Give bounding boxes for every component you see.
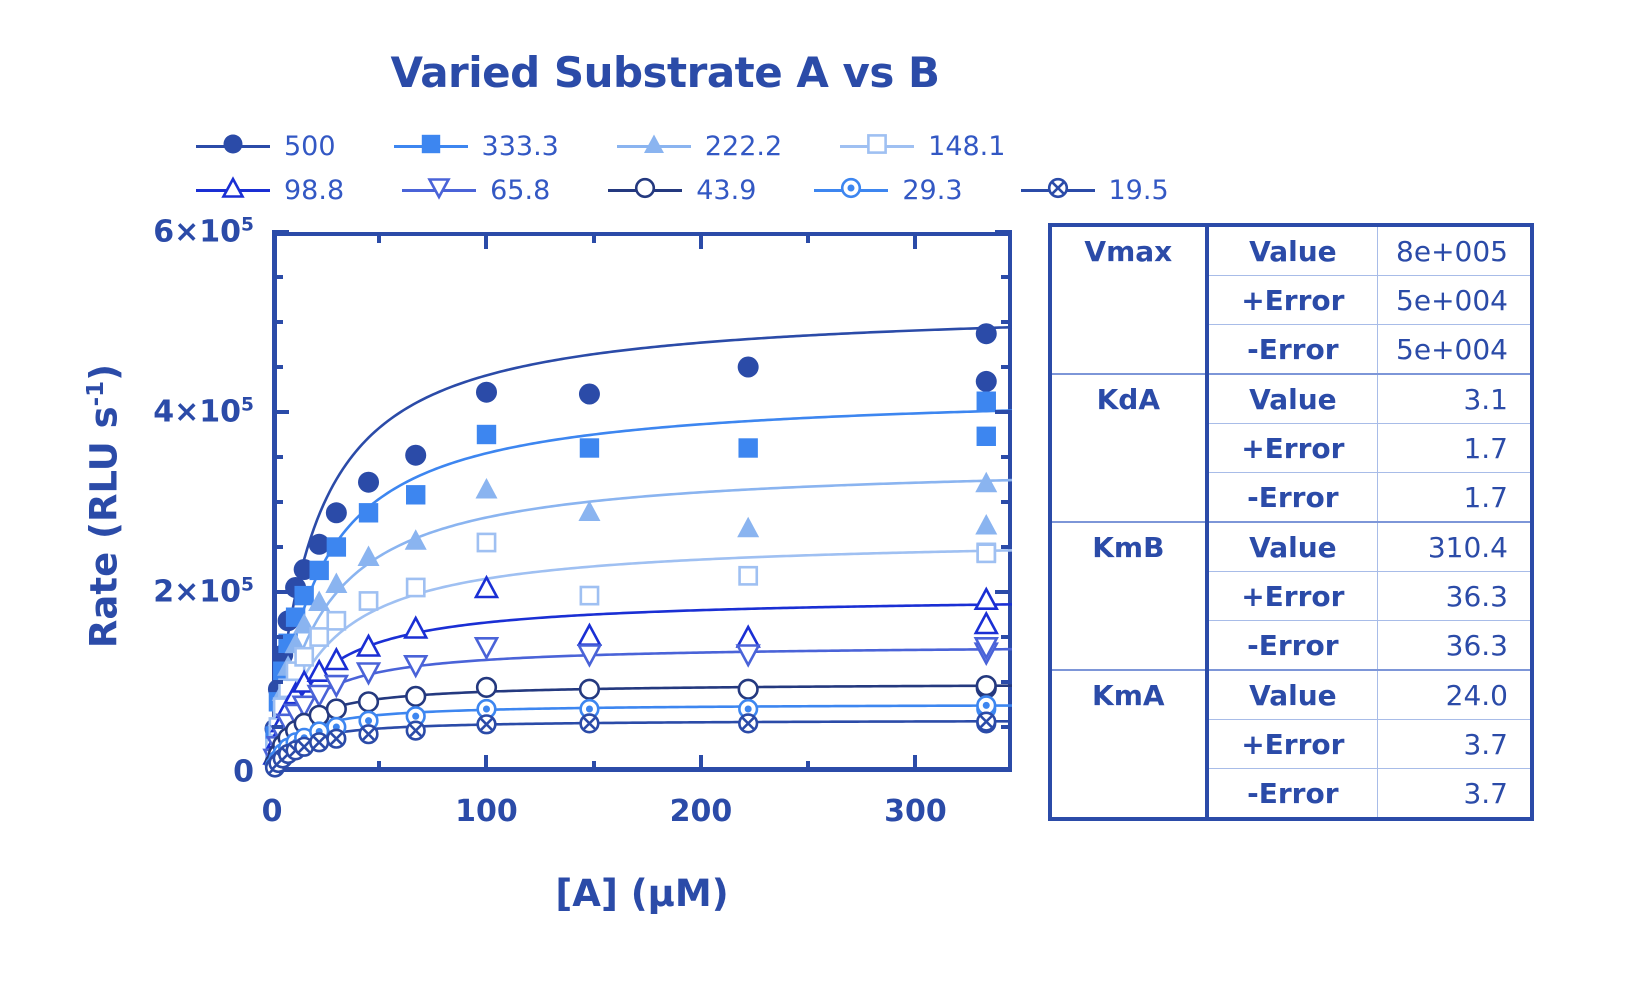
data-point bbox=[579, 625, 600, 645]
data-point bbox=[475, 478, 497, 499]
y-axis-minor-tick bbox=[1001, 680, 1012, 684]
parameter-name: KdA bbox=[1050, 374, 1207, 522]
data-point bbox=[581, 715, 599, 733]
legend-marker-filled-circle-icon bbox=[196, 134, 270, 158]
legend-marker-open-square-icon bbox=[840, 134, 914, 158]
legend-label: 148.1 bbox=[928, 131, 1005, 162]
y-axis-tick-mark bbox=[272, 410, 289, 414]
legend-marker-open-triangle-icon bbox=[196, 178, 270, 202]
data-point bbox=[977, 427, 996, 446]
data-point bbox=[360, 592, 377, 609]
data-point bbox=[296, 648, 313, 665]
data-point bbox=[476, 382, 497, 403]
data-point bbox=[478, 534, 495, 551]
parameter-value: 5e+004 bbox=[1378, 276, 1532, 325]
y-axis-minor-tick bbox=[272, 680, 283, 684]
fit-curve bbox=[272, 706, 1012, 772]
data-point bbox=[976, 614, 997, 634]
x-axis-minor-tick bbox=[377, 761, 381, 772]
legend-item-43-9[interactable]: 43.9 bbox=[608, 175, 756, 206]
x-axis-tick-label: 0 bbox=[262, 794, 283, 829]
data-point bbox=[476, 638, 497, 658]
legend-row: 98.865.843.929.319.5 bbox=[196, 168, 1196, 212]
data-point bbox=[326, 502, 347, 523]
data-point bbox=[477, 425, 496, 444]
legend-item-333-3[interactable]: 333.3 bbox=[394, 131, 559, 162]
parameter-field: Value bbox=[1207, 670, 1378, 720]
data-point bbox=[360, 725, 378, 743]
y-axis-minor-tick bbox=[272, 320, 283, 324]
y-axis-label: Rate (RLU s-1) bbox=[83, 364, 126, 648]
data-point bbox=[976, 371, 997, 392]
data-point bbox=[477, 678, 496, 697]
x-axis-tick-label: 100 bbox=[455, 794, 518, 829]
chart-legend: 500333.3222.2148.198.865.843.929.319.5 bbox=[196, 124, 1196, 212]
parameter-name: Vmax bbox=[1050, 225, 1207, 374]
parameter-table: VmaxValue8e+005+Error5e+004-Error5e+004K… bbox=[1048, 223, 1534, 821]
data-point bbox=[977, 676, 996, 695]
chart-title: Varied Substrate A vs B bbox=[0, 48, 1330, 97]
table-row: KmBValue310.4 bbox=[1050, 522, 1532, 572]
y-axis-minor-tick bbox=[1001, 500, 1012, 504]
x-axis-tick-mark bbox=[699, 232, 703, 249]
data-point bbox=[977, 713, 995, 731]
data-point bbox=[309, 561, 328, 580]
legend-marker-target-circle-icon bbox=[814, 178, 888, 202]
parameter-value: 3.7 bbox=[1378, 720, 1532, 769]
x-axis-tick-mark bbox=[699, 755, 703, 772]
legend-label: 98.8 bbox=[284, 175, 344, 206]
y-axis-tick-label: 6×105 bbox=[153, 215, 254, 250]
x-axis-minor-tick bbox=[592, 761, 596, 772]
parameter-field: -Error bbox=[1207, 473, 1378, 523]
parameter-field: Value bbox=[1207, 225, 1378, 276]
legend-marker-open-circle-icon bbox=[608, 178, 682, 202]
parameter-value: 36.3 bbox=[1378, 572, 1532, 621]
y-axis-minor-tick bbox=[1001, 455, 1012, 459]
parameter-field: Value bbox=[1207, 374, 1378, 424]
chart-page: Varied Substrate A vs B 500333.3222.2148… bbox=[0, 0, 1649, 983]
data-point bbox=[311, 628, 328, 645]
data-point bbox=[309, 534, 330, 555]
table-row: KmAValue24.0 bbox=[1050, 670, 1532, 720]
data-point bbox=[581, 587, 598, 604]
parameter-field: -Error bbox=[1207, 769, 1378, 820]
x-axis-tick-mark bbox=[913, 755, 917, 772]
legend-label: 333.3 bbox=[482, 131, 559, 162]
y-axis-minor-tick bbox=[272, 545, 283, 549]
parameter-value: 8e+005 bbox=[1378, 225, 1532, 276]
y-axis-minor-tick bbox=[1001, 635, 1012, 639]
fit-curve bbox=[272, 649, 1012, 772]
legend-label: 65.8 bbox=[490, 175, 550, 206]
data-point bbox=[327, 537, 346, 556]
data-point bbox=[478, 716, 496, 734]
data-point bbox=[976, 589, 997, 609]
data-point bbox=[407, 579, 424, 596]
y-axis-tick-mark bbox=[995, 410, 1012, 414]
data-point bbox=[978, 545, 995, 562]
series-canvas bbox=[272, 232, 1012, 772]
legend-label: 500 bbox=[284, 131, 336, 162]
plot-area: 02×1054×1056×1050100200300 bbox=[272, 232, 1012, 772]
parameter-field: -Error bbox=[1207, 325, 1378, 375]
data-point bbox=[327, 700, 346, 719]
data-point bbox=[405, 529, 427, 550]
data-point bbox=[976, 323, 997, 344]
parameter-value: 5e+004 bbox=[1378, 325, 1532, 375]
x-axis-tick-mark bbox=[484, 755, 488, 772]
parameter-field: +Error bbox=[1207, 720, 1378, 769]
data-point bbox=[358, 546, 380, 567]
parameter-value: 36.3 bbox=[1378, 621, 1532, 671]
y-axis-tick-label: 0 bbox=[233, 755, 254, 790]
legend-label: 222.2 bbox=[705, 131, 782, 162]
legend-label: 29.3 bbox=[902, 175, 962, 206]
data-point bbox=[737, 517, 759, 538]
x-axis-tick-mark bbox=[913, 232, 917, 249]
data-point bbox=[405, 618, 426, 638]
legend-marker-filled-square-icon bbox=[394, 134, 468, 158]
data-point bbox=[406, 687, 425, 706]
y-axis-minor-tick bbox=[272, 500, 283, 504]
fit-curve bbox=[272, 550, 1012, 772]
data-point bbox=[580, 680, 599, 699]
legend-item-500[interactable]: 500 bbox=[196, 131, 336, 162]
data-point bbox=[359, 693, 378, 712]
data-point bbox=[359, 503, 378, 522]
y-axis-minor-tick bbox=[1001, 725, 1012, 729]
x-axis-minor-tick bbox=[377, 232, 381, 243]
y-axis-tick-mark bbox=[272, 590, 289, 594]
parameter-field: +Error bbox=[1207, 572, 1378, 621]
legend-item-29-3[interactable]: 29.3 bbox=[814, 175, 962, 206]
parameter-name: KmA bbox=[1050, 670, 1207, 819]
y-axis-tick-mark bbox=[995, 590, 1012, 594]
parameter-value: 3.7 bbox=[1378, 769, 1532, 820]
data-point bbox=[328, 612, 345, 629]
data-point bbox=[738, 357, 759, 378]
parameter-field: +Error bbox=[1207, 424, 1378, 473]
data-point bbox=[738, 646, 759, 666]
data-point bbox=[738, 627, 759, 647]
legend-item-98-8[interactable]: 98.8 bbox=[196, 175, 344, 206]
legend-label: 19.5 bbox=[1109, 175, 1169, 206]
parameter-field: Value bbox=[1207, 522, 1378, 572]
legend-label: 43.9 bbox=[696, 175, 756, 206]
y-axis-minor-tick bbox=[1001, 275, 1012, 279]
data-point bbox=[294, 586, 313, 605]
data-point bbox=[739, 715, 757, 733]
y-axis-minor-tick bbox=[272, 455, 283, 459]
parameter-value: 310.4 bbox=[1378, 522, 1532, 572]
x-axis-tick-label: 200 bbox=[670, 794, 733, 829]
data-point bbox=[738, 438, 757, 457]
table-row: VmaxValue8e+005 bbox=[1050, 225, 1532, 276]
data-point bbox=[579, 384, 600, 405]
y-axis-minor-tick bbox=[272, 365, 283, 369]
legend-item-19-5[interactable]: 19.5 bbox=[1021, 175, 1169, 206]
data-point bbox=[580, 438, 599, 457]
x-axis-minor-tick bbox=[806, 232, 810, 243]
data-point bbox=[328, 730, 346, 748]
legend-row: 500333.3222.2148.1 bbox=[196, 124, 1196, 168]
y-axis-tick-label: 2×105 bbox=[153, 575, 254, 610]
data-point bbox=[358, 636, 379, 656]
data-point bbox=[405, 445, 426, 466]
data-point bbox=[739, 680, 758, 699]
y-axis-minor-tick bbox=[1001, 365, 1012, 369]
parameter-field: +Error bbox=[1207, 276, 1378, 325]
legend-marker-filled-triangle-icon bbox=[617, 134, 691, 158]
parameter-field: -Error bbox=[1207, 621, 1378, 671]
x-axis-tick-mark bbox=[484, 232, 488, 249]
parameter-name: KmB bbox=[1050, 522, 1207, 670]
y-axis-minor-tick bbox=[272, 275, 283, 279]
data-point bbox=[740, 567, 757, 584]
data-point bbox=[310, 734, 328, 752]
legend-marker-open-triangle-down-icon bbox=[402, 178, 476, 202]
x-axis-minor-tick bbox=[806, 761, 810, 772]
parameter-value: 3.1 bbox=[1378, 374, 1532, 424]
parameter-value: 1.7 bbox=[1378, 424, 1532, 473]
y-axis-tick-mark bbox=[272, 230, 289, 234]
y-axis-minor-tick bbox=[272, 725, 283, 729]
data-point bbox=[406, 485, 425, 504]
parameter-value: 1.7 bbox=[1378, 473, 1532, 523]
data-point bbox=[358, 472, 379, 493]
parameter-value: 24.0 bbox=[1378, 670, 1532, 720]
legend-item-65-8[interactable]: 65.8 bbox=[402, 175, 550, 206]
fit-curve bbox=[272, 721, 1012, 772]
y-axis-tick-mark bbox=[995, 230, 1012, 234]
y-axis-minor-tick bbox=[1001, 320, 1012, 324]
x-axis-label: [A] (μM) bbox=[555, 872, 728, 915]
y-axis-minor-tick bbox=[1001, 545, 1012, 549]
data-point bbox=[326, 650, 347, 670]
legend-marker-x-circle-icon bbox=[1021, 178, 1095, 202]
legend-item-148-1[interactable]: 148.1 bbox=[840, 131, 1005, 162]
table-row: KdAValue3.1 bbox=[1050, 374, 1532, 424]
y-axis-minor-tick bbox=[272, 635, 283, 639]
x-axis-tick-label: 300 bbox=[884, 794, 947, 829]
fit-curve bbox=[272, 410, 1012, 772]
data-point bbox=[977, 392, 996, 411]
legend-item-222-2[interactable]: 222.2 bbox=[617, 131, 782, 162]
y-axis-tick-label: 4×105 bbox=[153, 395, 254, 430]
data-point bbox=[975, 514, 997, 535]
x-axis-minor-tick bbox=[592, 232, 596, 243]
data-point bbox=[407, 722, 425, 740]
